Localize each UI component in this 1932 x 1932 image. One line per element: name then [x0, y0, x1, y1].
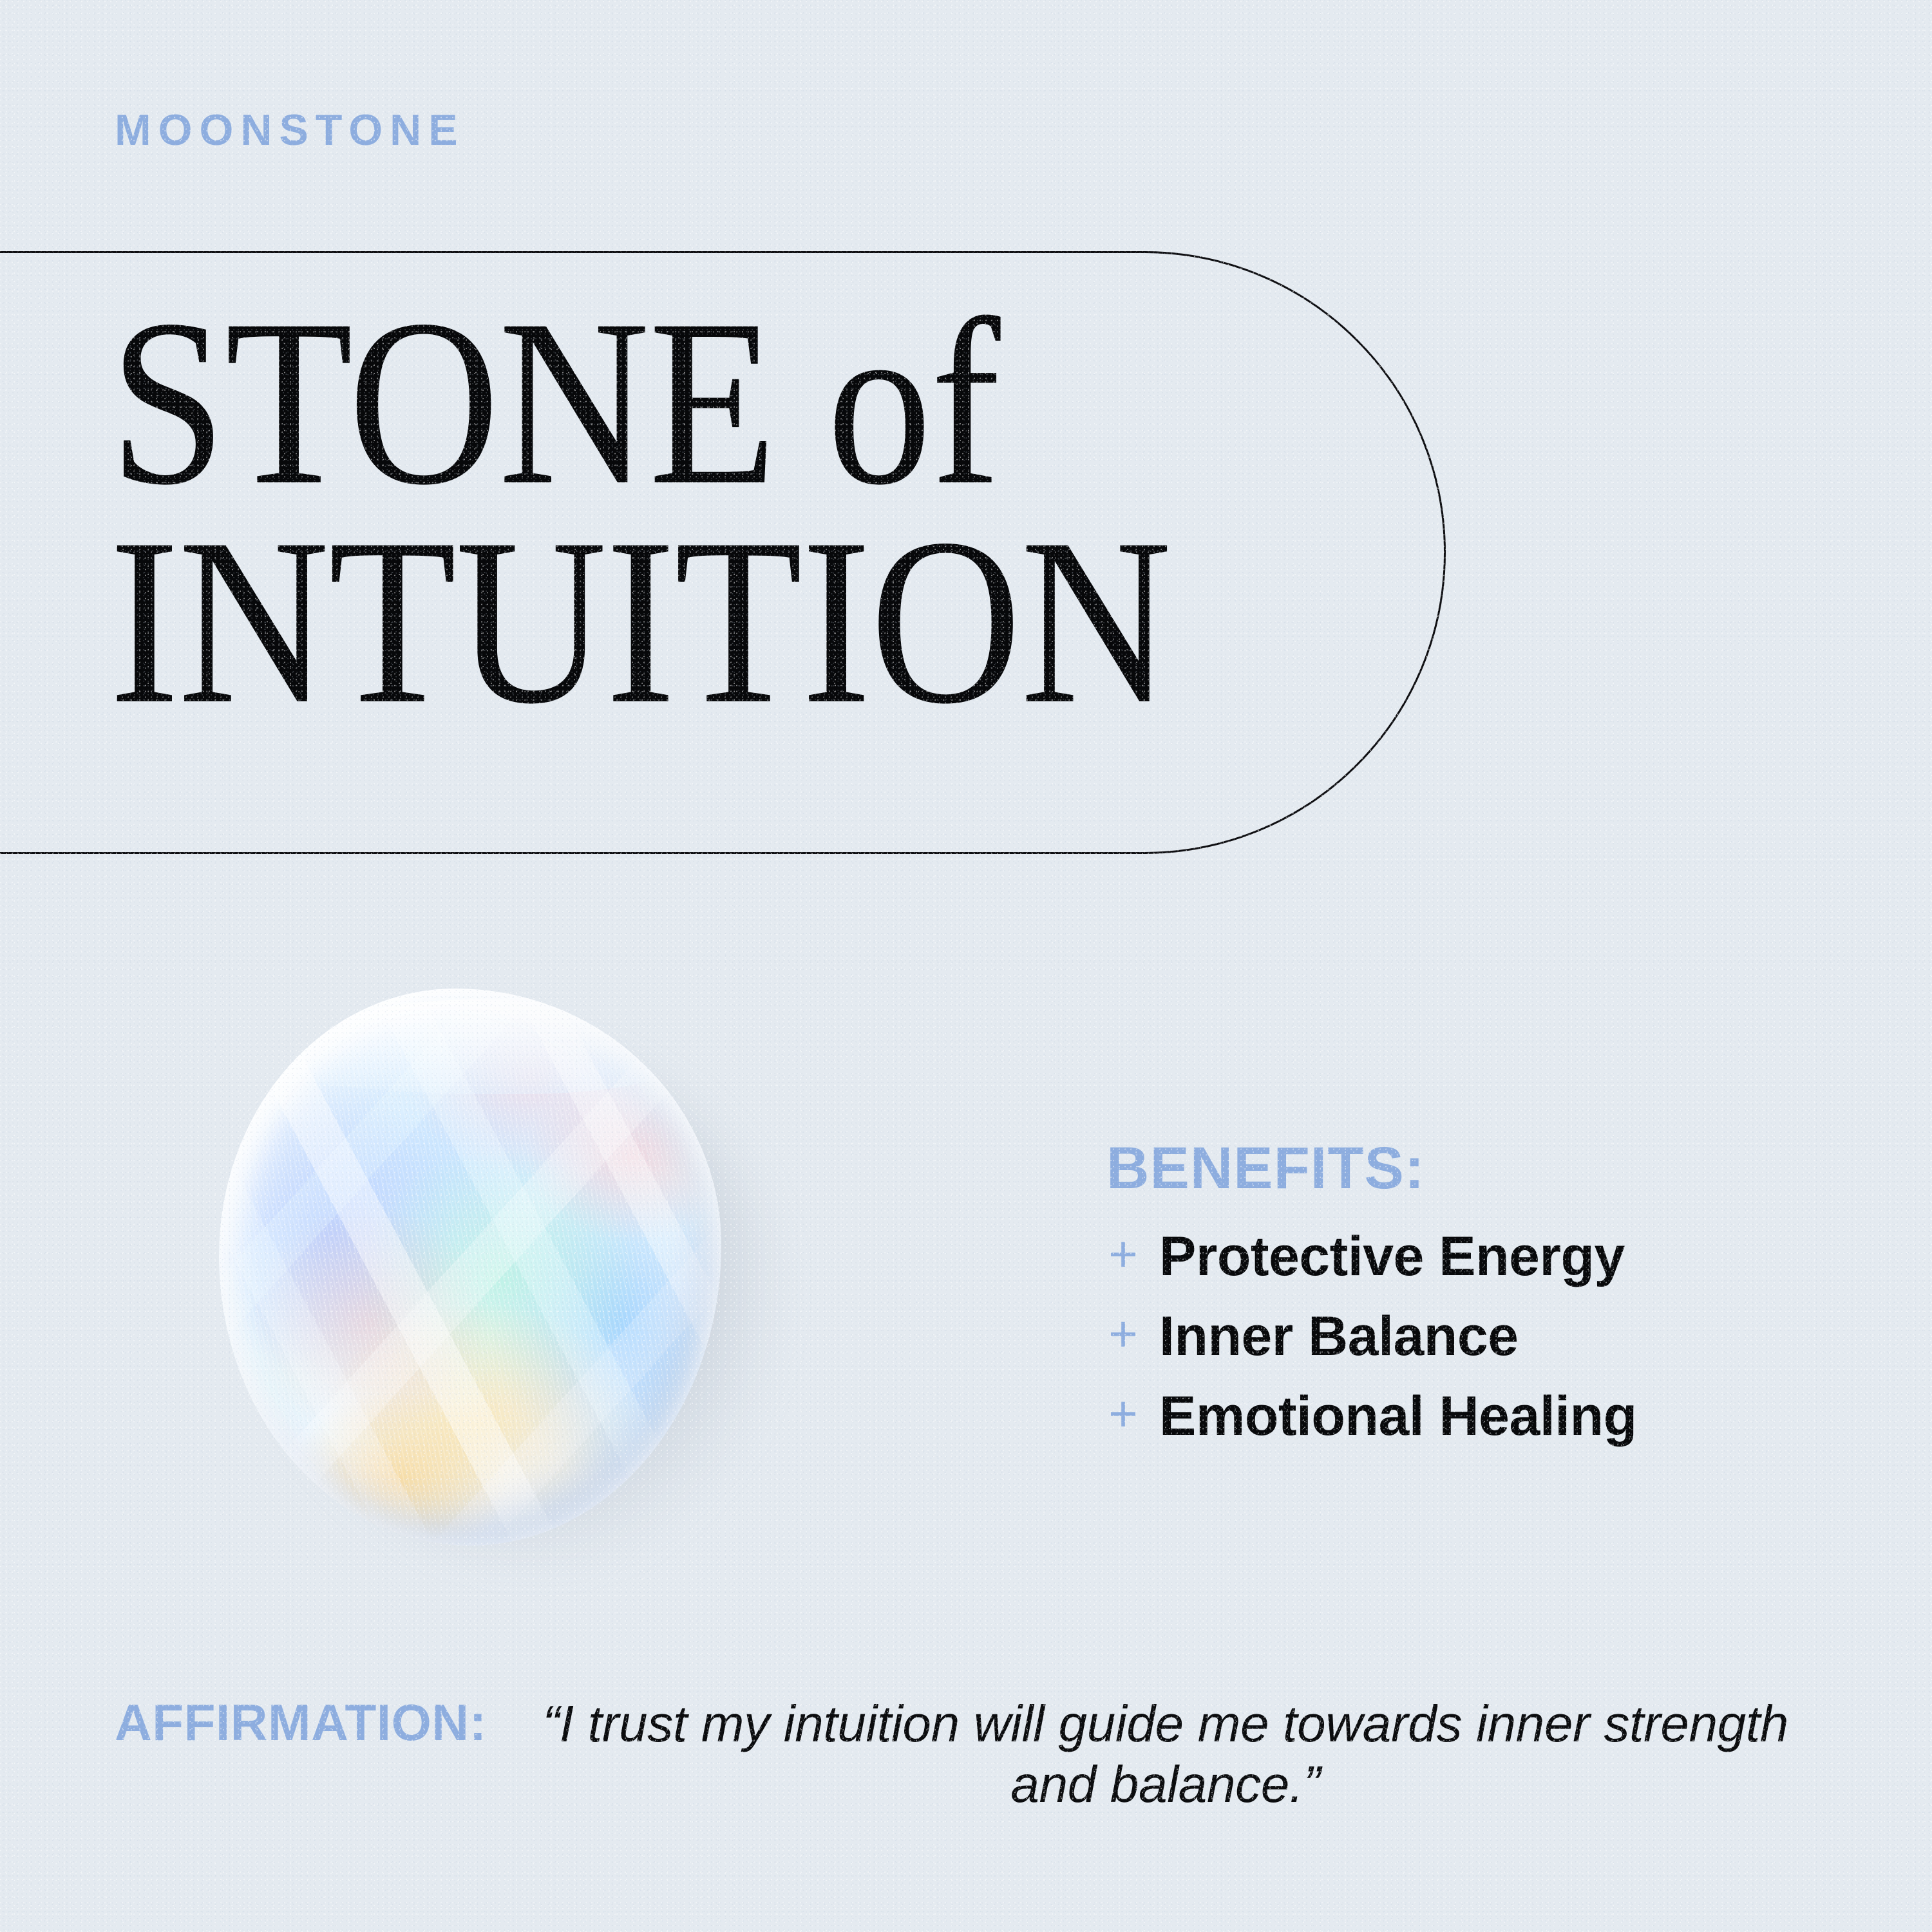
affirmation-section: AFFIRMATION: “I trust my intuition will …: [115, 1694, 1828, 1815]
benefits-heading: BENEFITS:: [1106, 1139, 1866, 1198]
benefit-label: Protective Energy: [1159, 1221, 1625, 1292]
plus-icon: +: [1106, 1388, 1140, 1439]
benefit-label: Inner Balance: [1159, 1301, 1519, 1372]
affirmation-quote: “I trust my intuition will guide me towa…: [504, 1694, 1828, 1815]
page-title: STONE of INTUITION: [109, 293, 1243, 732]
title-line-1: STONE of: [109, 293, 1243, 512]
affirmation-label: AFFIRMATION:: [115, 1694, 487, 1752]
benefits-list: + Protective Energy + Inner Balance + Em…: [1106, 1221, 1866, 1452]
title-line-2: INTUITION: [109, 512, 1243, 731]
moonstone-image: [213, 979, 747, 1578]
benefit-label: Emotional Healing: [1159, 1381, 1637, 1452]
plus-icon: +: [1106, 1309, 1140, 1359]
benefits-section: BENEFITS: + Protective Energy + Inner Ba…: [1106, 1139, 1866, 1461]
category-eyebrow: MOONSTONE: [115, 108, 465, 152]
plus-icon: +: [1106, 1229, 1140, 1279]
benefit-item-inner-balance: + Inner Balance: [1106, 1301, 1866, 1372]
moonstone-crystal: [219, 989, 721, 1546]
benefit-item-emotional-healing: + Emotional Healing: [1106, 1381, 1866, 1452]
benefit-item-protective-energy: + Protective Energy: [1106, 1221, 1866, 1292]
